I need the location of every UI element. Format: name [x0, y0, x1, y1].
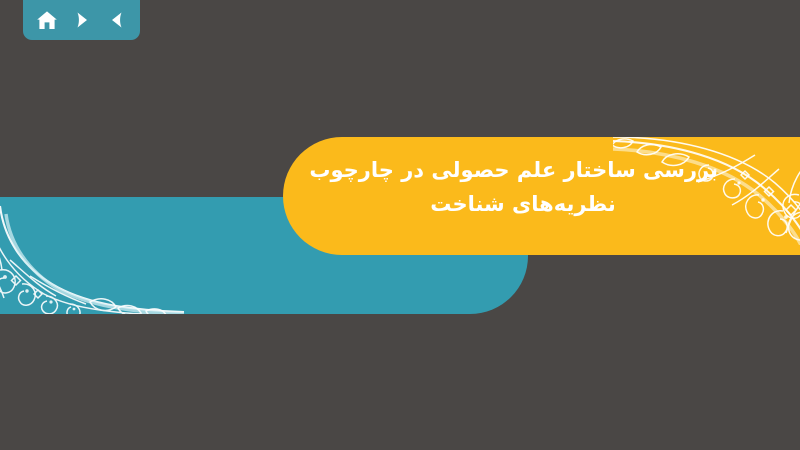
home-icon — [36, 10, 58, 31]
title-line-1: بررسی ساختار علم حصولی در چارچوب — [328, 153, 718, 187]
triangle-left-icon — [107, 10, 127, 30]
triangle-right-icon — [72, 10, 92, 30]
title-line-2: نظریه‌های شناخت — [328, 187, 718, 221]
slide-canvas: بررسی ساختار علم حصولی در چارچوب نظریه‌ه… — [0, 0, 800, 450]
slide-title: بررسی ساختار علم حصولی در چارچوب نظریه‌ه… — [328, 153, 718, 221]
previous-slide-button[interactable] — [104, 7, 130, 33]
arabesque-corner-ornament-teal — [0, 204, 185, 314]
navigation-bar — [23, 0, 140, 40]
home-button[interactable] — [34, 7, 60, 33]
orange-title-banner: بررسی ساختار علم حصولی در چارچوب نظریه‌ه… — [283, 137, 800, 255]
next-slide-button[interactable] — [69, 7, 95, 33]
